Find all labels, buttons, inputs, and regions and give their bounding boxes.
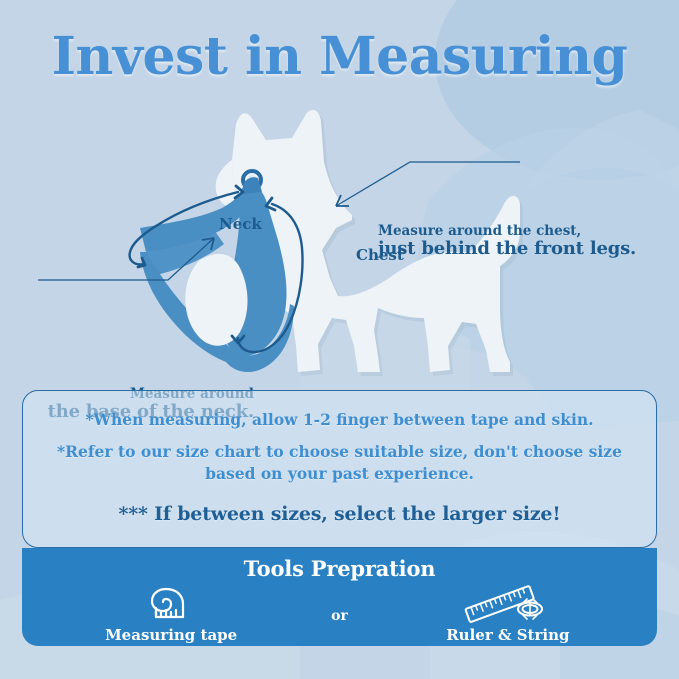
tools-title: Tools Prepration [22,548,657,581]
neck-label: Neck [219,215,262,233]
tools-row: Measuring tape or [22,583,657,644]
tool-measuring-tape: Measuring tape [81,583,261,644]
measuring-tape-icon [140,583,202,625]
measurement-diagram: Measure around the chest, just behind th… [0,100,679,385]
tool-ruler-string: Ruler & String [418,583,598,644]
tools-preparation-bar: Tools Prepration [22,548,657,646]
measuring-guide-infographic: Invest in Measuring [0,0,679,679]
ruler-string-icon [460,583,556,625]
chest-callout-line1: Measure around the chest, [378,224,636,239]
note-1: *When measuring, allow 1-2 finger betwee… [53,409,626,431]
note-3: *** If between sizes, select the larger … [53,503,626,525]
note-2: *Refer to our size chart to choose suita… [53,441,626,485]
tools-or-label: or [331,608,348,624]
page-title: Invest in Measuring [0,26,679,87]
tool-label-measuring-tape: Measuring tape [105,626,237,644]
chest-label: Chest [356,246,404,264]
tool-label-ruler-string: Ruler & String [446,626,569,644]
chest-callout-line [336,162,520,206]
notes-panel: *When measuring, allow 1-2 finger betwee… [22,390,657,548]
chest-callout: Measure around the chest, just behind th… [378,224,636,259]
chest-callout-line2: just behind the front legs. [378,239,636,259]
